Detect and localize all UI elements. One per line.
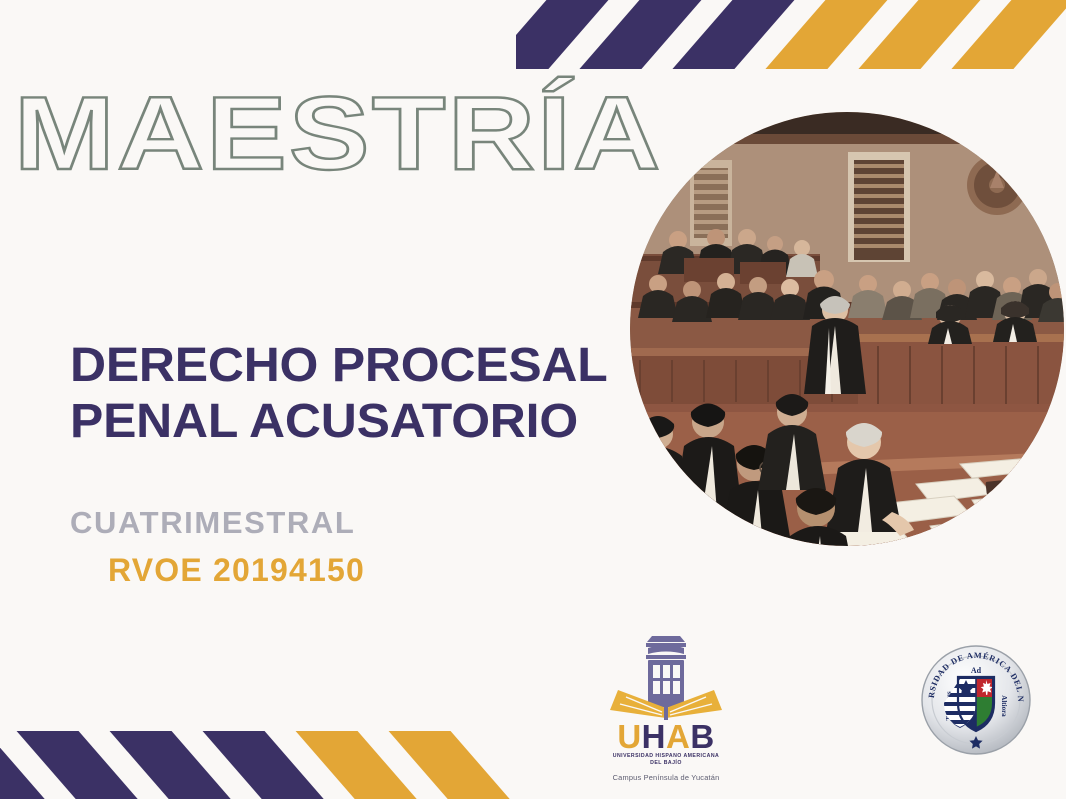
rvoe-label: RVOE 20194150: [108, 552, 365, 589]
uhab-campus-label: Campus Península de Yucatán: [600, 773, 732, 782]
program-title-line-1: DERECHO PROCESAL: [70, 338, 611, 394]
seal-motto-altiora: Altiora: [1000, 695, 1008, 717]
uhab-letter-h: H: [642, 718, 666, 755]
universidad-de-america-del-norte-seal: UNIVERSIDAD DE AMÉRICA DEL NORTE Ad Tend…: [920, 644, 1032, 756]
degree-level-headline: MAESTRÍA: [14, 82, 663, 186]
courtroom-illustration: [630, 112, 1064, 546]
uhab-tagline: UNIVERSIDAD HISPANO AMERICANA DEL BAJÍO: [600, 753, 732, 767]
uhab-logo: UHAB UNIVERSIDAD HISPANO AMERICANA DEL B…: [600, 632, 732, 762]
modality-label: CUATRIMESTRAL: [70, 505, 355, 541]
uhab-tagline-line-1: UNIVERSIDAD HISPANO AMERICANA: [600, 753, 732, 760]
uhab-letter-u: U: [617, 718, 641, 755]
bottom-stripe-decoration: [0, 731, 525, 799]
seal-motto-ad: Ad: [971, 666, 982, 675]
program-title-line-2: PENAL ACUSATORIO: [70, 394, 611, 450]
uhab-letter-a: A: [666, 718, 690, 755]
top-stripe-decoration: [516, 0, 1066, 69]
uhab-wordmark: UHAB: [600, 722, 732, 752]
uhab-tagline-line-2: DEL BAJÍO: [600, 760, 732, 767]
poster-canvas: MAESTRÍA: [0, 0, 1066, 799]
program-title: DERECHO PROCESAL PENAL ACUSATORIO: [70, 338, 611, 450]
uhab-column-book-emblem: [600, 632, 732, 720]
uhab-letter-b: B: [690, 718, 714, 755]
